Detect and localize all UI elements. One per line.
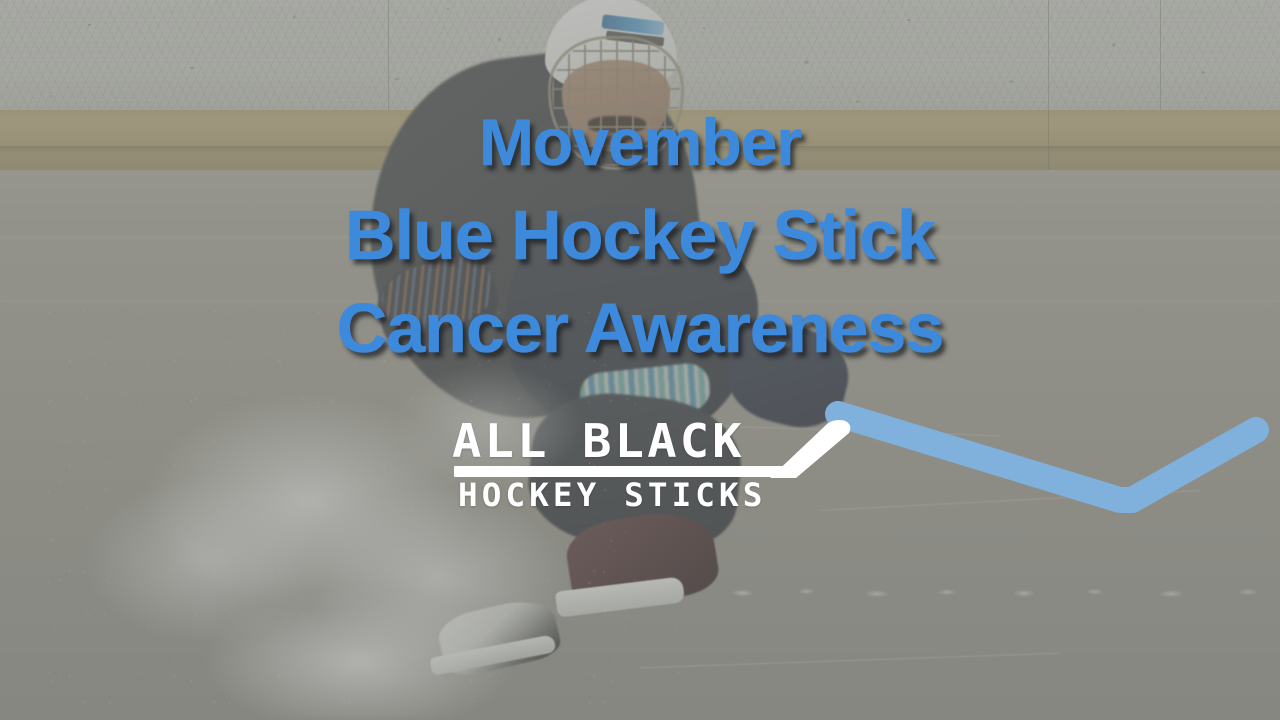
title-line-1: Movember (0, 96, 1280, 189)
brand-logo: ALL BLACK HOCKEY STICKS (452, 414, 852, 518)
blue-hockey-stick-graphic (780, 350, 1280, 530)
title-line-3: Cancer Awareness (0, 282, 1280, 375)
promo-banner: Movember Blue Hockey Stick Cancer Awaren… (0, 0, 1280, 720)
logo-brand-bottom: HOCKEY STICKS (458, 476, 767, 514)
page-title: Movember Blue Hockey Stick Cancer Awaren… (0, 96, 1280, 375)
title-line-2: Blue Hockey Stick (0, 189, 1280, 282)
logo-hockey-stick-blade-icon (744, 416, 854, 482)
logo-brand-top: ALL BLACK (452, 414, 745, 468)
